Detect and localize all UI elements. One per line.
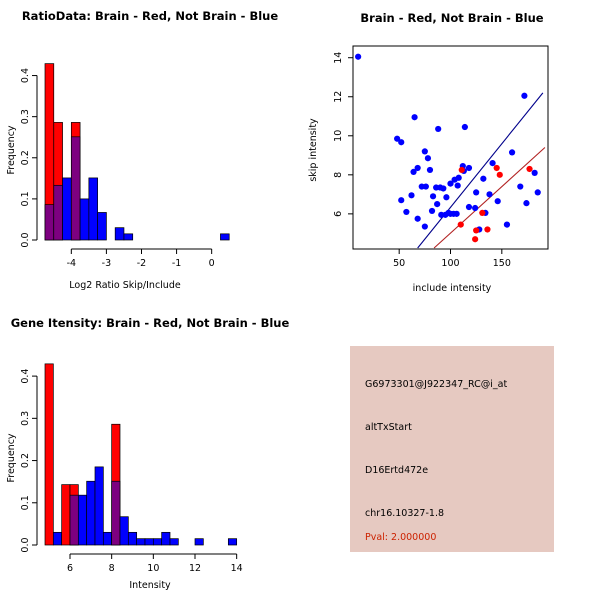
y-tick-label: 0.3 [20,109,31,124]
scatter-point [408,192,414,198]
scatter-point [497,172,503,178]
plot-frame [353,46,548,249]
locus-text: chr16.10327-1.8 [365,508,444,519]
histogram-bar [63,178,72,240]
ratio-histogram-title: RatioData: Brain - Red, Not Brain - Blue [22,9,279,23]
histogram-bar [153,539,161,545]
x-tick-label: 0 [209,258,215,269]
scatter-point [447,181,453,187]
histogram-bar [87,481,95,545]
scatter-point [509,149,515,155]
y-tick-label: 0.4 [20,68,31,83]
histogram-bar [89,178,98,240]
x-tick-label: 8 [109,563,115,574]
y-tick-label: 6 [333,211,344,217]
y-tick-label: 8 [333,172,344,178]
ratio-histogram-panel: RatioData: Brain - Red, Not Brain - Blue… [0,0,300,300]
scatter-point [535,189,541,195]
gene-intensity-histogram-svg: Gene Itensity: Brain - Red, Not Brain - … [0,300,300,600]
histogram-bar [128,532,136,545]
scatter-point [434,201,440,207]
histogram-bar-overlap [70,495,78,545]
scatter-point [410,169,416,175]
scatter-point [480,176,486,182]
x-tick-label: -4 [67,258,76,269]
scatter-point [440,185,446,191]
scatter-point [523,200,529,206]
scatter-point [459,167,465,173]
x-tick-label: -1 [172,258,181,269]
intensity-scatter-xlabel: include intensity [413,283,492,294]
histogram-bar [162,532,170,545]
scatter-point [415,216,421,222]
scatter-point [504,222,510,228]
y-tick-label: 0.0 [20,232,31,247]
histogram-bar-overlap [45,205,54,240]
y-tick-label: 0.1 [20,495,31,510]
scatter-point [454,211,460,217]
histogram-bar [80,199,89,240]
scatter-point [422,223,428,229]
scatter-point [398,197,404,203]
intensity-scatter-svg: Brain - Red, Not Brain - Blue 6810121450… [300,0,600,300]
histogram-bar [103,532,111,545]
histogram-bar [53,532,61,545]
ratio-histogram-plot-area [45,64,229,240]
y-tick-label: 14 [333,52,344,64]
histogram-bar [45,364,53,545]
histogram-bar [137,539,145,545]
histogram-bar [120,517,128,545]
scatter-point [398,139,404,145]
scatter-point [484,226,490,232]
x-tick-label: 150 [493,258,511,269]
scatter-point [422,148,428,154]
y-tick-label: 0.4 [20,369,31,384]
scatter-point [495,198,501,204]
gene-intensity-histogram-plot-area [45,364,237,545]
x-tick-label: 14 [231,563,243,574]
scatter-point [423,183,429,189]
intensity-scatter-title: Brain - Red, Not Brain - Blue [360,11,543,25]
y-tick-label: 10 [333,130,344,142]
histogram-bar [124,234,133,240]
scatter-point [494,165,500,171]
scatter-point [443,194,449,200]
scatter-point [473,227,479,233]
probe-id-text: G6973301@J922347_RC@i_at [365,379,507,390]
x-tick-label: -2 [137,258,146,269]
intensity-scatter-axes: 6810121450100150 [333,46,548,269]
not-brain-fit-line [418,93,543,248]
gene-intensity-histogram-ylabel: Frequency [6,433,17,482]
x-tick-label: 6 [67,563,73,574]
y-tick-label: 0.2 [20,453,31,468]
scatter-point [472,205,478,211]
intensity-scatter-panel: Brain - Red, Not Brain - Blue 6810121450… [300,0,600,300]
x-tick-label: 50 [393,258,405,269]
ratio-histogram-xlabel: Log2 Ratio Skip/Include [69,280,181,291]
scatter-point [430,193,436,199]
scatter-point [532,170,538,176]
y-tick-label: 0.1 [20,191,31,206]
histogram-bar [115,228,124,240]
scatter-point [473,189,479,195]
gene-info-panel: G6973301@J922347_RC@i_at altTxStart D16E… [350,346,554,552]
gene-intensity-histogram-panel: Gene Itensity: Brain - Red, Not Brain - … [0,300,300,600]
histogram-bar-overlap [112,481,120,545]
scatter-point [486,191,492,197]
brain-fit-line [434,148,545,249]
x-tick-label: -3 [102,258,111,269]
gene-symbol-text: D16Ertd472e [365,465,428,476]
histogram-bar [98,212,107,240]
x-tick-label: 12 [189,563,201,574]
scatter-point [403,209,409,215]
scatter-point [526,166,532,172]
scatter-point [355,54,361,60]
histogram-bar [62,485,70,545]
intensity-scatter-plot-area [355,54,545,248]
scatter-point [435,126,441,132]
histogram-bar-overlap [54,185,63,240]
histogram-bar [78,495,86,545]
scatter-point [489,160,495,166]
histogram-bar [220,234,229,240]
event-type-text: altTxStart [365,422,412,433]
scatter-content [355,54,545,248]
histogram-bar [195,539,203,545]
scatter-point [455,182,461,188]
scatter-point [466,204,472,210]
ratio-histogram-ylabel: Frequency [6,125,17,174]
histogram-bar [228,539,236,545]
histogram-bar-overlap [71,137,80,240]
y-tick-label: 0.0 [20,537,31,552]
scatter-point [438,212,444,218]
x-tick-label: 100 [441,258,459,269]
scatter-point [479,210,485,216]
pvalue-text: Pval: 2.000000 [365,532,436,543]
scatter-point [429,208,435,214]
intensity-scatter-ylabel: skip intensity [308,118,319,182]
histogram-bar [145,539,153,545]
scatter-point [411,114,417,120]
y-tick-label: 0.3 [20,411,31,426]
y-tick-label: 0.2 [20,150,31,165]
gene-intensity-histogram-xlabel: Intensity [129,580,171,591]
ratio-histogram-svg: RatioData: Brain - Red, Not Brain - Blue… [0,0,300,300]
y-tick-label: 12 [333,91,344,103]
histogram-bar [95,467,103,545]
scatter-point [521,93,527,99]
scatter-point [517,183,523,189]
scatter-point [425,155,431,161]
scatter-point [472,236,478,242]
scatter-point [458,222,464,228]
x-tick-label: 10 [147,563,159,574]
scatter-point [427,167,433,173]
histogram-bar [170,539,178,545]
scatter-point [462,124,468,130]
gene-intensity-histogram-title: Gene Itensity: Brain - Red, Not Brain - … [11,316,290,330]
